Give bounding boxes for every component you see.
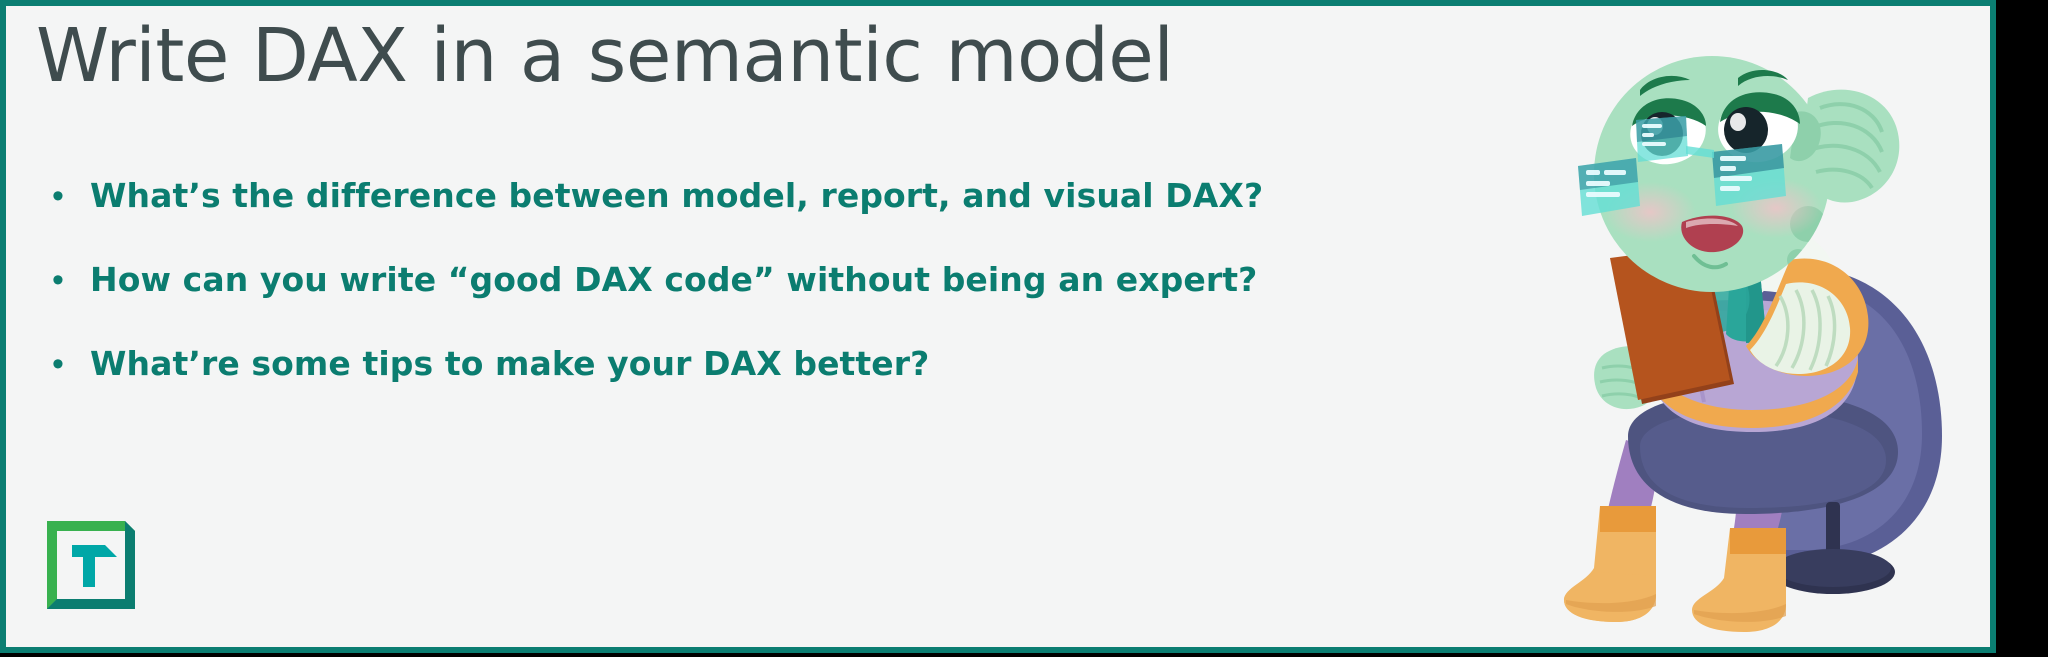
green-alien-analyst-icon: CMEA xyxy=(1490,16,1960,636)
slide-frame: Write DAX in a semantic model • What’s t… xyxy=(0,0,1996,653)
bullet-marker-icon: • xyxy=(46,342,90,386)
list-item: • What’s the difference between model, r… xyxy=(46,174,1166,218)
bullet-marker-icon: • xyxy=(46,258,90,302)
bullet-text: How can you write “good DAX code” withou… xyxy=(90,258,1257,302)
bullet-marker-icon: • xyxy=(46,174,90,218)
hero-illustration: CMEA xyxy=(1490,16,1960,636)
brand-logo xyxy=(33,517,139,623)
bullet-text: What’re some tips to make your DAX bette… xyxy=(90,342,929,386)
t-cube-logo-icon xyxy=(33,517,139,623)
bullet-text: What’s the difference between model, rep… xyxy=(90,174,1263,218)
list-item: • How can you write “good DAX code” with… xyxy=(46,258,1166,302)
list-item: • What’re some tips to make your DAX bet… xyxy=(46,342,1166,386)
page-title: Write DAX in a semantic model xyxy=(36,18,1173,96)
slide-body: Write DAX in a semantic model • What’s t… xyxy=(6,6,1990,647)
bullet-list: • What’s the difference between model, r… xyxy=(46,174,1166,426)
